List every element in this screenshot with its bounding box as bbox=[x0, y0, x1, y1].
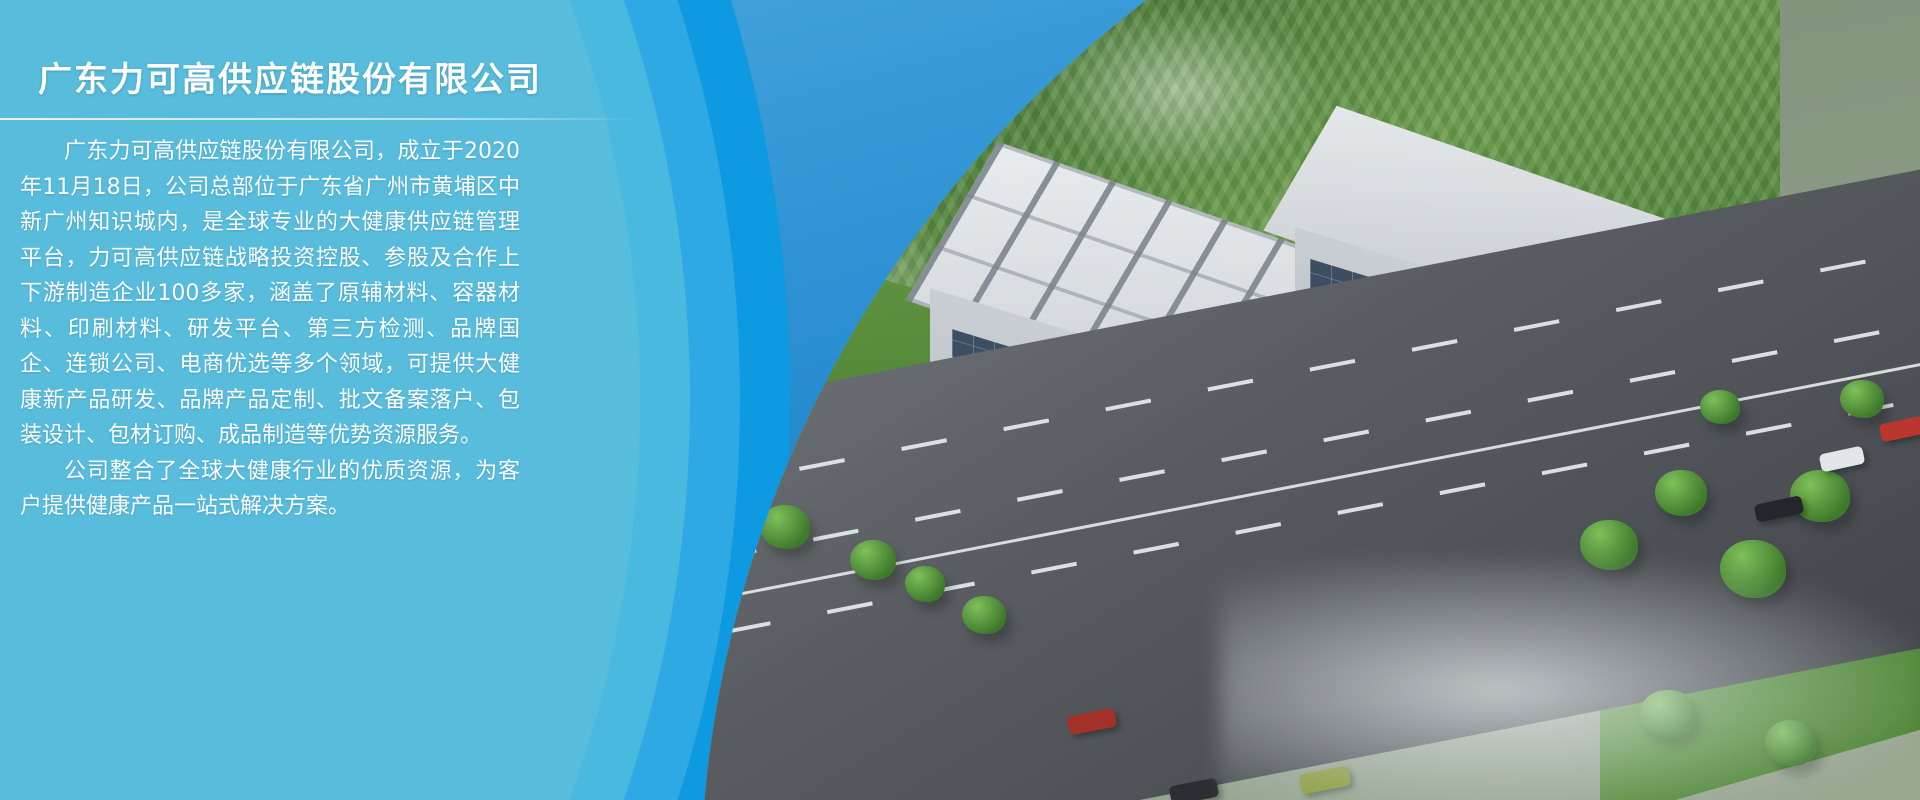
road-mist-overlay bbox=[1220, 560, 1920, 800]
headquarters-aerial-photo: 中新广州知识城产业园 bbox=[700, 0, 1920, 800]
tree bbox=[1700, 390, 1740, 424]
text-column: 广东力可高供应链股份有限公司 广东力可高供应链股份有限公司，成立于2020年11… bbox=[0, 0, 640, 800]
paragraph-1: 广东力可高供应链股份有限公司，成立于2020年11月18日，公司总部位于广东省广… bbox=[20, 134, 520, 454]
tree bbox=[1655, 470, 1707, 516]
company-profile-banner: 中新广州知识城产业园 bbox=[0, 0, 1920, 800]
title-divider bbox=[0, 118, 640, 120]
photo-circular-mask: 中新广州知识城产业园 bbox=[700, 0, 1920, 800]
tree bbox=[850, 540, 896, 580]
tree bbox=[1840, 380, 1884, 418]
tree bbox=[962, 596, 1006, 634]
page-title: 广东力可高供应链股份有限公司 bbox=[38, 52, 542, 101]
tree bbox=[905, 566, 945, 602]
company-description: 广东力可高供应链股份有限公司，成立于2020年11月18日，公司总部位于广东省广… bbox=[20, 134, 520, 525]
tree bbox=[760, 505, 810, 549]
paragraph-2: 公司整合了全球大健康行业的优质资源，为客户提供健康产品一站式解决方案。 bbox=[20, 454, 520, 525]
